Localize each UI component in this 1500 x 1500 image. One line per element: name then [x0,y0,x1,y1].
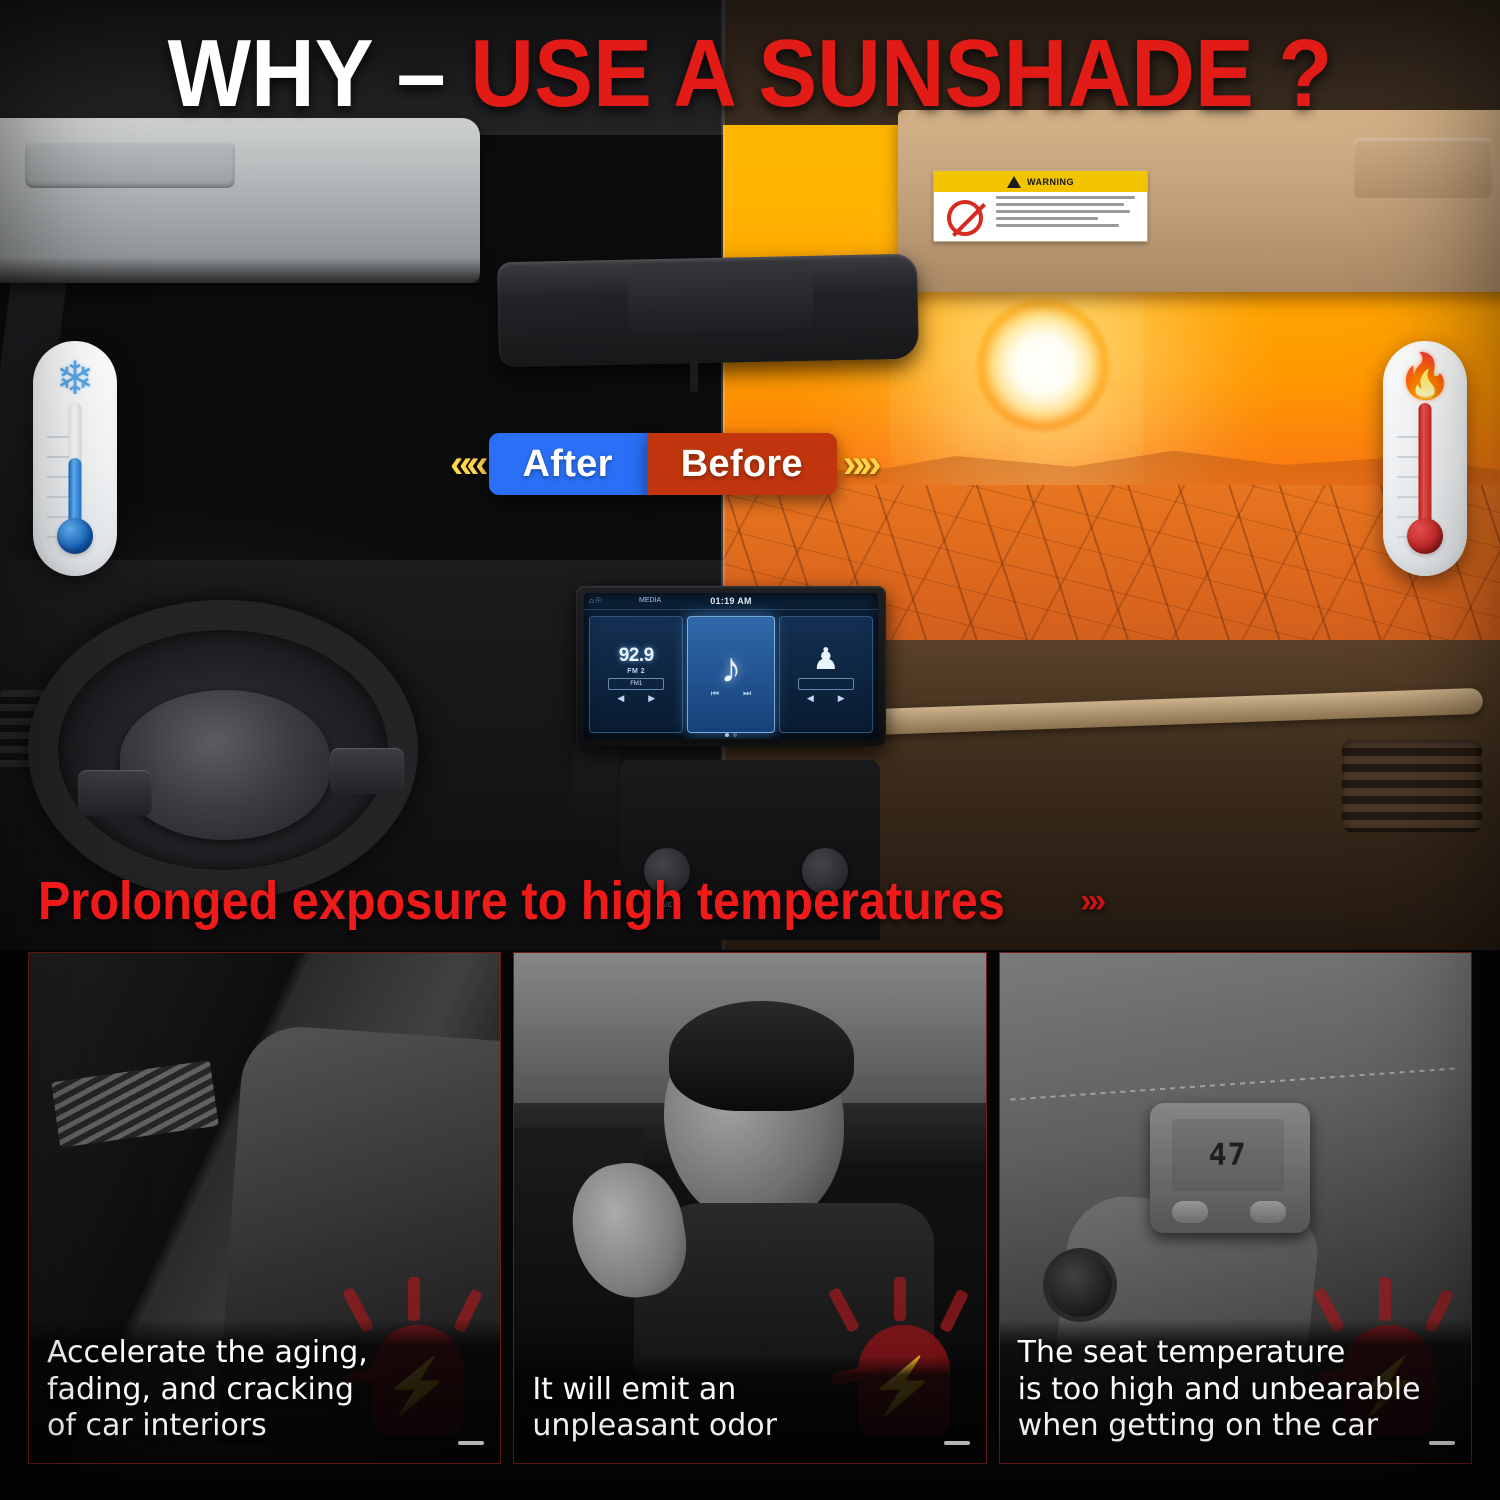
panel-2-caption-dash [944,1441,970,1445]
screen-page-dots[interactable] [584,733,878,737]
warning-sticker-body [934,192,1147,242]
panel-unpleasant-odor: ⚡ It will emit an unpleasant odor [513,952,986,1464]
radio-frequency: 92.9 [619,646,654,665]
mirror-stem [690,352,698,392]
before-after-badge-row: «« After Before »» [450,433,875,495]
wristwatch-photo [1048,1253,1112,1317]
radio-preset-pill[interactable]: FM1 [608,678,664,690]
media-prev-icon[interactable]: ⏮ [711,688,719,699]
chevron-left-icon: «« [450,444,483,484]
no-rear-facing-child-seat-icon [934,192,996,242]
media-tile[interactable]: ♪ ⏮ ⏭ [687,616,774,733]
infotainment-bezel: ⌂☉ MEDIA 01:19 AM 92.9 FM 2 FM1 ◀ ▶ [576,586,886,746]
panel-2-caption: It will emit an unpleasant odor [514,1356,985,1463]
radio-band: FM 2 [627,668,645,675]
radio-seek-controls[interactable]: ◀ ▶ [617,693,655,704]
rearview-mirror [497,254,919,368]
driver-profile-tile[interactable]: ♟ ◀ ▶ [779,616,873,733]
radio-next-icon[interactable]: ▶ [648,693,655,704]
before-badge[interactable]: Before [647,433,837,495]
snowflake-icon: ❄ [33,355,117,401]
music-note-icon: ♪ [721,650,742,686]
hot-thermometer: 🔥 [1383,341,1467,576]
warning-sticker-header: WARNING [934,171,1147,192]
screen-clock: 01:19 AM [710,596,752,606]
radio-tile[interactable]: 92.9 FM 2 FM1 ◀ ▶ [589,616,683,733]
profile-next-icon[interactable]: ▶ [838,693,845,704]
warning-heading: WARNING [1027,177,1074,187]
person-icon: ♟ [812,645,839,675]
sun-glare [978,300,1108,430]
page-title-white: WHY – [168,20,471,127]
subheading-banner: Prolonged exposure to high temperatures … [38,874,1102,928]
page-title: WHY – USE A SUNSHADE ? [60,26,1440,122]
hot-thermometer-bulb [1407,518,1443,554]
chevron-right-icon: »» [843,444,876,484]
air-vent-right [1342,740,1482,832]
before-after-hero: WARNING [0,0,1500,950]
sunshade-infographic-poster: WARNING [0,0,1500,1500]
person-hair-photo [669,1001,854,1111]
profile-nav-controls[interactable]: ◀ ▶ [807,693,845,704]
warning-triangle-icon [1007,176,1021,188]
page-dot-inactive[interactable] [733,733,737,737]
panel-seat-temperature: 47 ⚡ The seat temperature is too high an… [999,952,1472,1464]
airbag-warning-sticker: WARNING [933,170,1148,242]
panel-aging-interiors: ⚡ Accelerate the aging, fading, and crac… [28,952,501,1464]
screen-status-bar: ⌂☉ MEDIA 01:19 AM [584,593,878,610]
hot-thermometer-fill [1419,403,1432,528]
infrared-thermometer-gun: 47 [1150,1103,1310,1233]
panel-1-caption: Accelerate the aging, fading, and cracki… [29,1319,500,1463]
page-title-red: USE A SUNSHADE ? [470,20,1332,127]
profile-pill[interactable] [798,678,854,690]
thermometer-reading-display: 47 [1172,1119,1284,1191]
chevron-right-triple-icon: ››› [1080,882,1102,921]
consequence-panels: ⚡ Accelerate the aging, fading, and crac… [0,952,1500,1500]
cold-thermometer: ❄ [33,341,117,576]
infotainment-screen[interactable]: ⌂☉ MEDIA 01:19 AM 92.9 FM 2 FM1 ◀ ▶ [584,593,878,739]
screen-mount-bracket [566,741,620,854]
media-transport-controls[interactable]: ⏮ ⏭ [711,688,751,699]
after-badge[interactable]: After [489,433,647,495]
dashboard-vent-photo [51,1060,219,1148]
panel-3-caption: The seat temperature is too high and unb… [1000,1319,1471,1463]
bluetooth-icon: ⌂☉ [589,596,603,605]
screen-tiles: 92.9 FM 2 FM1 ◀ ▶ ♪ ⏮ ⏭ [584,610,878,739]
cold-thermometer-bulb [57,518,93,554]
flame-icon: 🔥 [1383,355,1467,399]
warning-text-lines [996,192,1147,242]
radio-prev-icon[interactable]: ◀ [617,693,624,704]
hot-thermometer-tube [1419,403,1432,528]
screen-source-label: MEDIA [639,597,661,604]
panel-3-caption-dash [1429,1441,1455,1445]
thermometer-button-left[interactable] [1172,1201,1208,1223]
cold-thermometer-tube [69,403,82,528]
thermometer-button-right[interactable] [1250,1201,1286,1223]
media-next-icon[interactable]: ⏭ [743,688,751,699]
profile-prev-icon[interactable]: ◀ [807,693,814,704]
sun-visor-right: WARNING [898,110,1500,292]
page-dot-active[interactable] [725,733,729,737]
subheading-text: Prolonged exposure to high temperatures [38,874,1005,928]
panel-1-caption-dash [458,1441,484,1445]
mirror-headrest-reflection [627,260,813,334]
